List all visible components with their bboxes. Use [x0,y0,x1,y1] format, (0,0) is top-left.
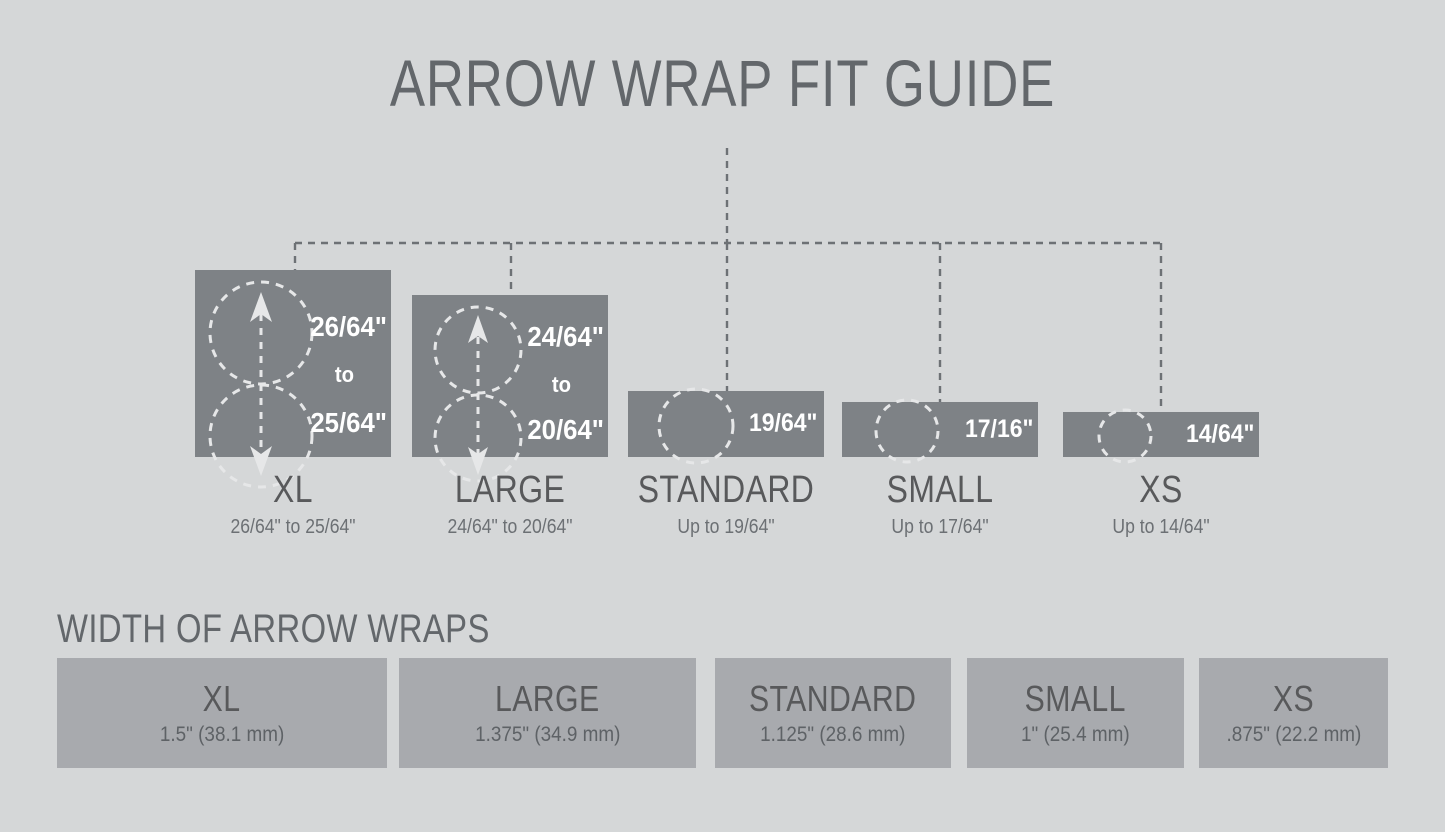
fit-box-xl-graphic [195,270,391,470]
width-box-xs-name: XS [1273,679,1314,719]
fit-box-xs-value: 14/64" [1186,421,1254,448]
fit-box-standard: 19/64" [628,391,824,457]
width-box-large-name: LARGE [495,679,600,719]
width-box-xs-measurement: .875" (22.2 mm) [1226,722,1361,748]
fit-box-large-value-mid: to [552,373,571,397]
width-box-small-name: SMALL [1025,679,1126,719]
width-box-standard-measurement: 1.125" (28.6 mm) [760,722,905,748]
caption-xl-name: XL [196,468,389,512]
width-box-xl-measurement: 1.5" (38.1 mm) [160,722,284,748]
infographic-root: ARROW WRAP FIT GUIDE 26/64" to 25/64" [0,0,1445,832]
fit-box-standard-value: 19/64" [749,410,817,437]
caption-xs: XS Up to 14/64" [1046,468,1276,540]
caption-xs-name: XS [1064,468,1257,512]
width-box-xl: XL 1.5" (38.1 mm) [57,658,387,768]
caption-large: LARGE 24/64" to 20/64" [395,468,625,540]
width-box-small: SMALL 1" (25.4 mm) [967,658,1184,768]
width-box-xl-name: XL [203,679,241,719]
caption-xl-sub: 26/64" to 25/64" [192,514,394,540]
fit-box-large-value-top: 24/64" [527,322,604,352]
page-title: ARROW WRAP FIT GUIDE [145,46,1301,120]
width-box-large-measurement: 1.375" (34.9 mm) [475,722,620,748]
caption-small-name: SMALL [843,468,1036,512]
fit-box-large: 24/64" to 20/64" [412,295,608,457]
caption-large-name: LARGE [413,468,606,512]
fit-box-small-value: 17/16" [965,416,1033,443]
fit-box-xl-value-mid: to [335,363,354,387]
fit-box-large-value-bottom: 20/64" [527,415,604,445]
fit-box-xl-value-top: 26/64" [310,312,387,342]
fit-box-xs: 14/64" [1063,412,1259,457]
shaft-circle [1099,410,1151,462]
caption-xl: XL 26/64" to 25/64" [178,468,408,540]
caption-standard: STANDARD Up to 19/64" [611,468,841,540]
shaft-circle [876,400,938,462]
caption-xs-sub: Up to 14/64" [1060,514,1262,540]
width-section-heading: WIDTH OF ARROW WRAPS [57,605,490,653]
fit-box-xl: 26/64" to 25/64" [195,270,391,457]
fit-box-small: 17/16" [842,402,1038,457]
caption-standard-name: STANDARD [629,468,822,512]
shaft-circle [659,389,733,463]
fit-box-xl-value-bottom: 25/64" [310,408,387,438]
caption-standard-sub: Up to 19/64" [625,514,827,540]
width-box-standard: STANDARD 1.125" (28.6 mm) [715,658,951,768]
caption-small-sub: Up to 17/64" [839,514,1041,540]
width-box-large: LARGE 1.375" (34.9 mm) [399,658,696,768]
caption-large-sub: 24/64" to 20/64" [409,514,611,540]
width-box-small-measurement: 1" (25.4 mm) [1021,722,1130,748]
width-box-standard-name: STANDARD [749,679,916,719]
width-box-xs: XS .875" (22.2 mm) [1199,658,1388,768]
caption-small: SMALL Up to 17/64" [825,468,1055,540]
